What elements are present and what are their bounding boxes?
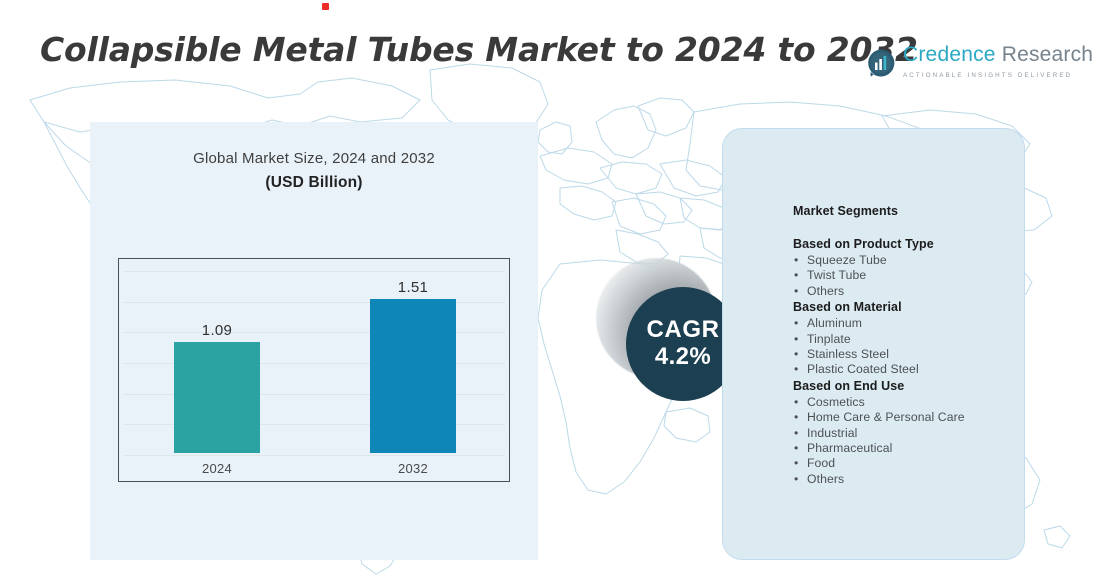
segment-list-item: •Twist Tube	[793, 268, 1033, 283]
segments-heading: Market Segments	[793, 204, 1033, 218]
segment-list-item: •Food	[793, 456, 1033, 471]
chart-bar	[174, 342, 260, 453]
segment-group-list: Based on Product Type•Squeeze Tube•Twist…	[793, 237, 1033, 487]
cagr-value: 4.2%	[655, 344, 711, 371]
page-title: Collapsible Metal Tubes Market to 2024 t…	[40, 30, 918, 69]
segment-group-title: Based on Material	[793, 300, 1033, 314]
bullet-icon: •	[794, 472, 798, 487]
cagr-label: CAGR	[646, 317, 719, 344]
bullet-icon: •	[794, 332, 798, 347]
bullet-icon: •	[794, 284, 798, 299]
segment-group-title: Based on Product Type	[793, 237, 1033, 251]
brand-logo: Credence Research Actionable Insights De…	[866, 44, 1112, 81]
bullet-icon: •	[794, 316, 798, 331]
bullet-icon: •	[794, 362, 798, 377]
logo-tagline: Actionable Insights Delivered	[903, 72, 1072, 79]
chart-title-line1: Global Market Size, 2024 and 2032	[193, 150, 435, 167]
segment-list-item: •Cosmetics	[793, 395, 1033, 410]
bullet-icon: •	[794, 253, 798, 268]
segment-item-label: Pharmaceutical	[807, 441, 892, 455]
segment-item-label: Twist Tube	[807, 268, 866, 282]
logo-wordmark: Credence Research	[903, 43, 1093, 66]
segment-list-item: •Industrial	[793, 426, 1033, 441]
bullet-icon: •	[794, 347, 798, 362]
segment-list-item: •Others	[793, 284, 1033, 299]
segment-item-label: Aluminum	[807, 316, 862, 330]
segment-item-label: Industrial	[807, 426, 857, 440]
chart-bar-value-label: 1.09	[144, 322, 290, 339]
segment-item-label: Others	[807, 284, 844, 298]
segment-list-item: •Tinplate	[793, 332, 1033, 347]
logo-word-research: Research	[1002, 43, 1093, 66]
chart-bar-value-label: 1.51	[340, 279, 486, 296]
credence-logo-icon	[866, 48, 896, 78]
chart-plot-area: 1.0920241.512032	[119, 259, 509, 481]
segment-list-item: •Pharmaceutical	[793, 441, 1033, 456]
chart-gridline	[123, 271, 505, 272]
segment-group-title: Based on End Use	[793, 379, 1033, 393]
market-segments-content: Market Segments Based on Product Type•Sq…	[793, 204, 1033, 487]
segment-item-label: Others	[807, 472, 844, 486]
segment-list-item: •Stainless Steel	[793, 347, 1033, 362]
chart-bar	[370, 299, 456, 453]
segment-item-label: Food	[807, 456, 835, 470]
segment-item-label: Stainless Steel	[807, 347, 889, 361]
bullet-icon: •	[794, 441, 798, 456]
bullet-icon: •	[794, 410, 798, 425]
segment-item-label: Plastic Coated Steel	[807, 362, 919, 376]
infographic-canvas: Collapsible Metal Tubes Market to 2024 t…	[0, 0, 1112, 575]
segment-item-label: Cosmetics	[807, 395, 865, 409]
segment-list-item: •Plastic Coated Steel	[793, 362, 1033, 377]
segment-list-item: •Aluminum	[793, 316, 1033, 331]
bar-chart: 1.0920241.512032	[118, 258, 510, 482]
bullet-icon: •	[794, 268, 798, 283]
bullet-icon: •	[794, 426, 798, 441]
chart-title: Global Market Size, 2024 and 2032 (USD B…	[90, 150, 538, 192]
chart-category-label: 2024	[144, 461, 290, 476]
chart-category-label: 2032	[340, 461, 486, 476]
segment-list-item: •Home Care & Personal Care	[793, 410, 1033, 425]
logo-word-credence: Credence	[903, 43, 996, 66]
red-dot-marker	[322, 3, 329, 10]
bullet-icon: •	[794, 456, 798, 471]
chart-subtitle: (USD Billion)	[90, 174, 538, 192]
bullet-icon: •	[794, 395, 798, 410]
segment-list-item: •Squeeze Tube	[793, 253, 1033, 268]
chart-baseline	[123, 455, 505, 456]
segment-item-label: Tinplate	[807, 332, 851, 346]
segment-item-label: Home Care & Personal Care	[807, 410, 965, 424]
segment-list-item: •Others	[793, 472, 1033, 487]
segment-item-label: Squeeze Tube	[807, 253, 887, 267]
